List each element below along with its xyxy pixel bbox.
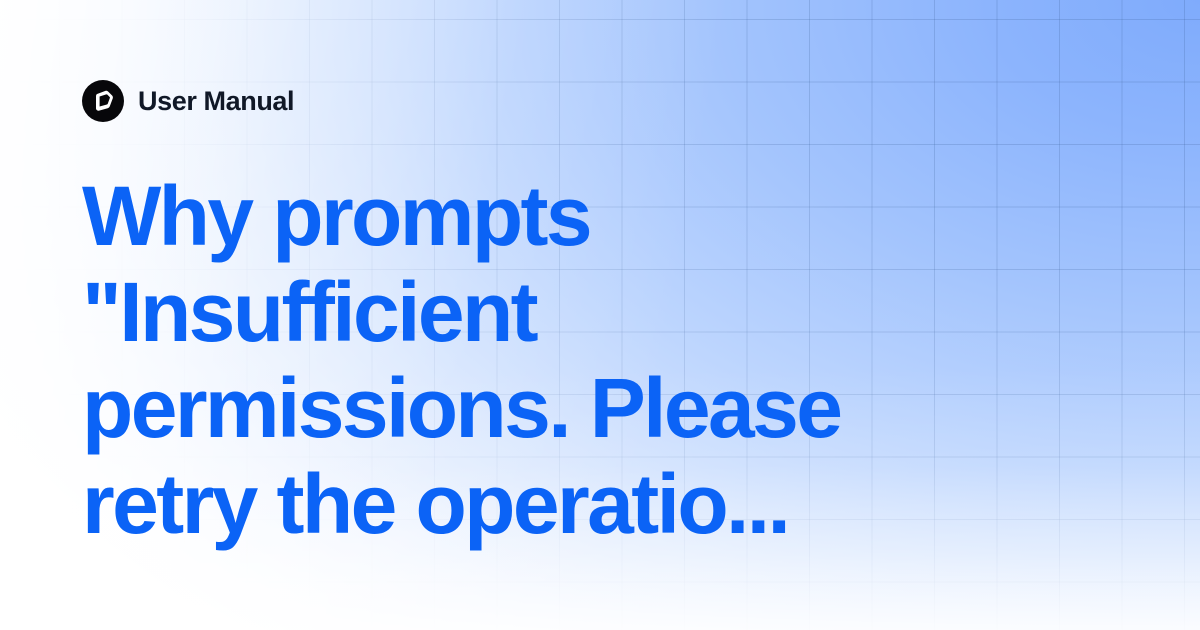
social-card: User Manual Why prompts "Insufficient pe… (0, 0, 1200, 630)
brand-name-label: User Manual (138, 88, 294, 115)
card-content: User Manual Why prompts "Insufficient pe… (0, 0, 1200, 630)
page-title: Why prompts "Insufficient permissions. P… (82, 124, 962, 552)
brand-lockup: User Manual (82, 78, 1200, 124)
pentagon-d-logo-icon (82, 80, 124, 122)
